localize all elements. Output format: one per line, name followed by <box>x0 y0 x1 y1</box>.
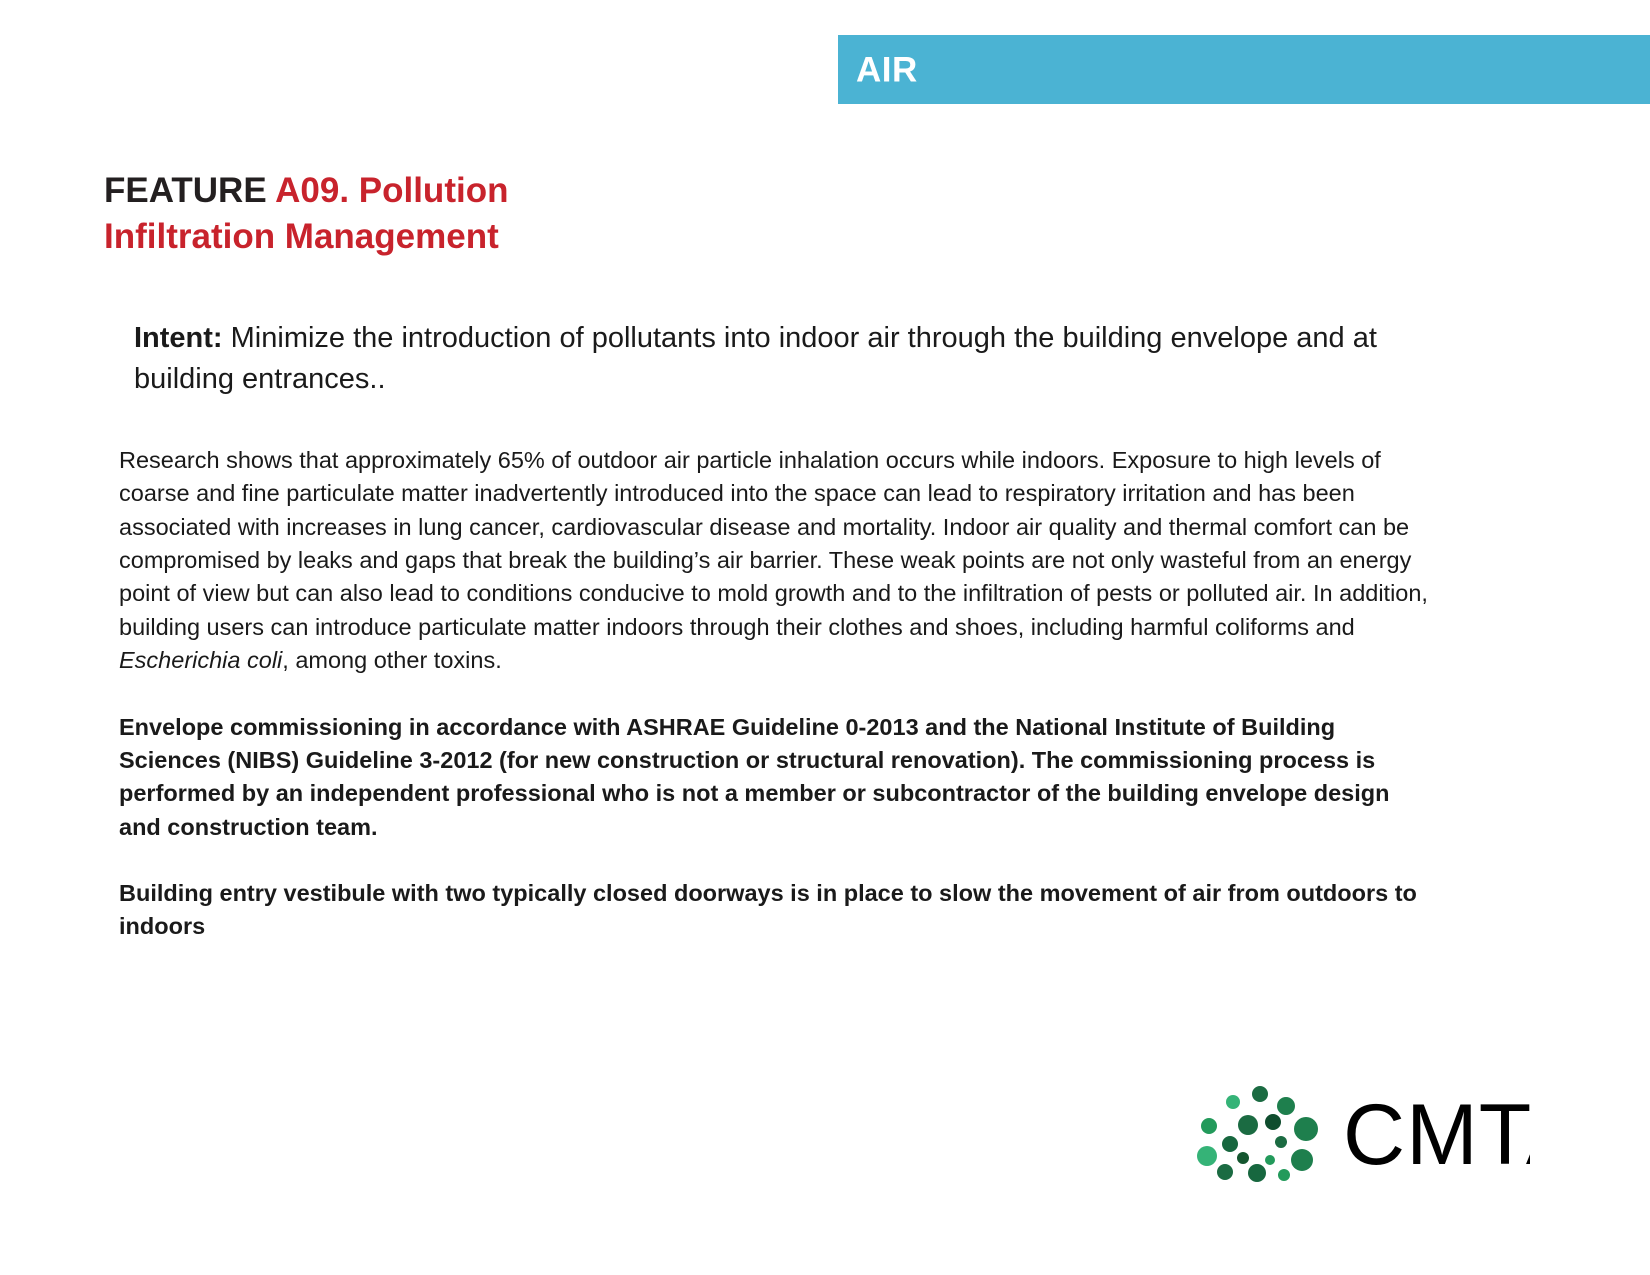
paragraph-entry-vestibule: Building entry vestibule with two typica… <box>119 877 1434 944</box>
intent-text: Minimize the introduction of pollutants … <box>134 322 1377 395</box>
air-category-banner: AIR <box>838 35 1650 104</box>
cmta-logo-svg: CMTA <box>1185 1072 1530 1184</box>
cmta-logo: CMTA <box>1185 1072 1530 1184</box>
title-accent-line1: A09. Pollution <box>275 171 508 210</box>
air-banner-label: AIR <box>856 52 918 87</box>
paragraph-spacer-2 <box>119 844 1434 877</box>
intent-statement: Intent: Minimize the introduction of pol… <box>134 318 1434 400</box>
intent-label: Intent: <box>134 322 223 354</box>
title-accent-line2: Infiltration Management <box>104 217 499 256</box>
page-title: FEATURE A09. Pollution Infiltration Mana… <box>104 168 1104 259</box>
paragraph-spacer-1 <box>119 678 1434 711</box>
paragraph1-part1: Research shows that approximately 65% of… <box>119 447 1428 640</box>
title-prefix: FEATURE <box>104 171 275 210</box>
paragraph-envelope-commissioning: Envelope commissioning in accordance wit… <box>119 711 1434 844</box>
cmta-logo-dots <box>1197 1086 1318 1182</box>
paragraph-research: Research shows that approximately 65% of… <box>119 444 1434 678</box>
body-content: Research shows that approximately 65% of… <box>119 444 1434 944</box>
paragraph1-italic-species: Escherichia coli <box>119 647 282 673</box>
cmta-wordmark: CMTA <box>1343 1087 1530 1183</box>
paragraph1-part2: , among other toxins. <box>282 647 501 673</box>
